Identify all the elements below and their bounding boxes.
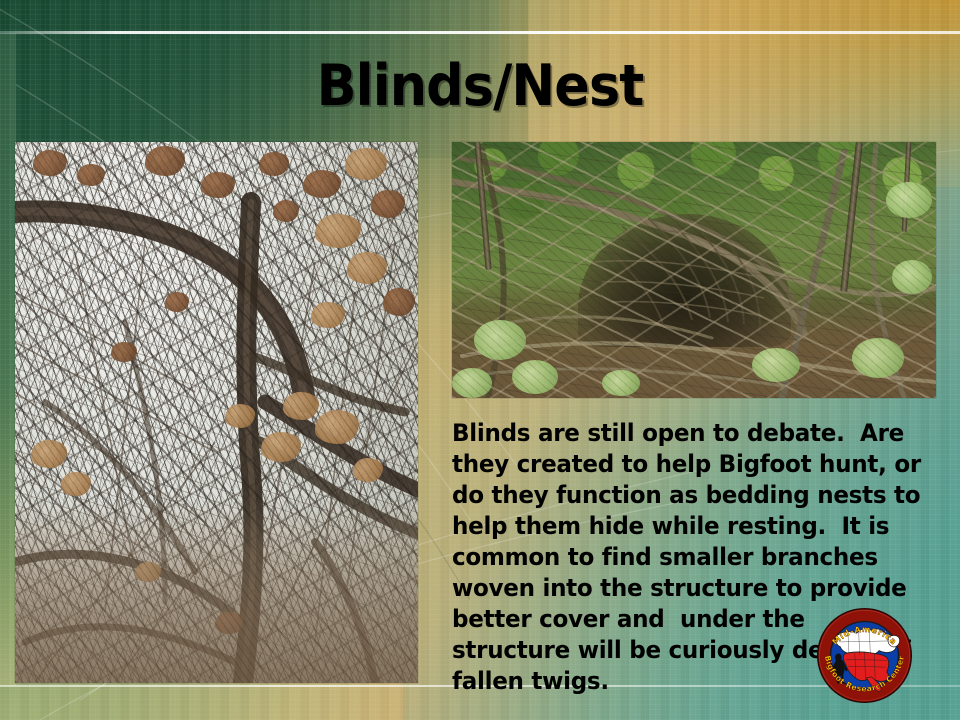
- left-photo-canvas: [15, 142, 418, 683]
- page-title: Blinds/Nest: [38, 56, 921, 116]
- header-divider-rule: [0, 31, 960, 34]
- slide-canvas: Blinds/Nest: [0, 0, 960, 720]
- background-left-strip: [0, 33, 16, 686]
- left-photo: [15, 142, 418, 683]
- left-photo-grain: [15, 142, 418, 683]
- right-photo-canvas: [452, 142, 936, 398]
- right-photo-grain: [452, 142, 936, 398]
- right-photo: [452, 142, 936, 398]
- mid-america-bigfoot-research-center-logo: Mid-America Bigfoot Research Center: [816, 607, 913, 704]
